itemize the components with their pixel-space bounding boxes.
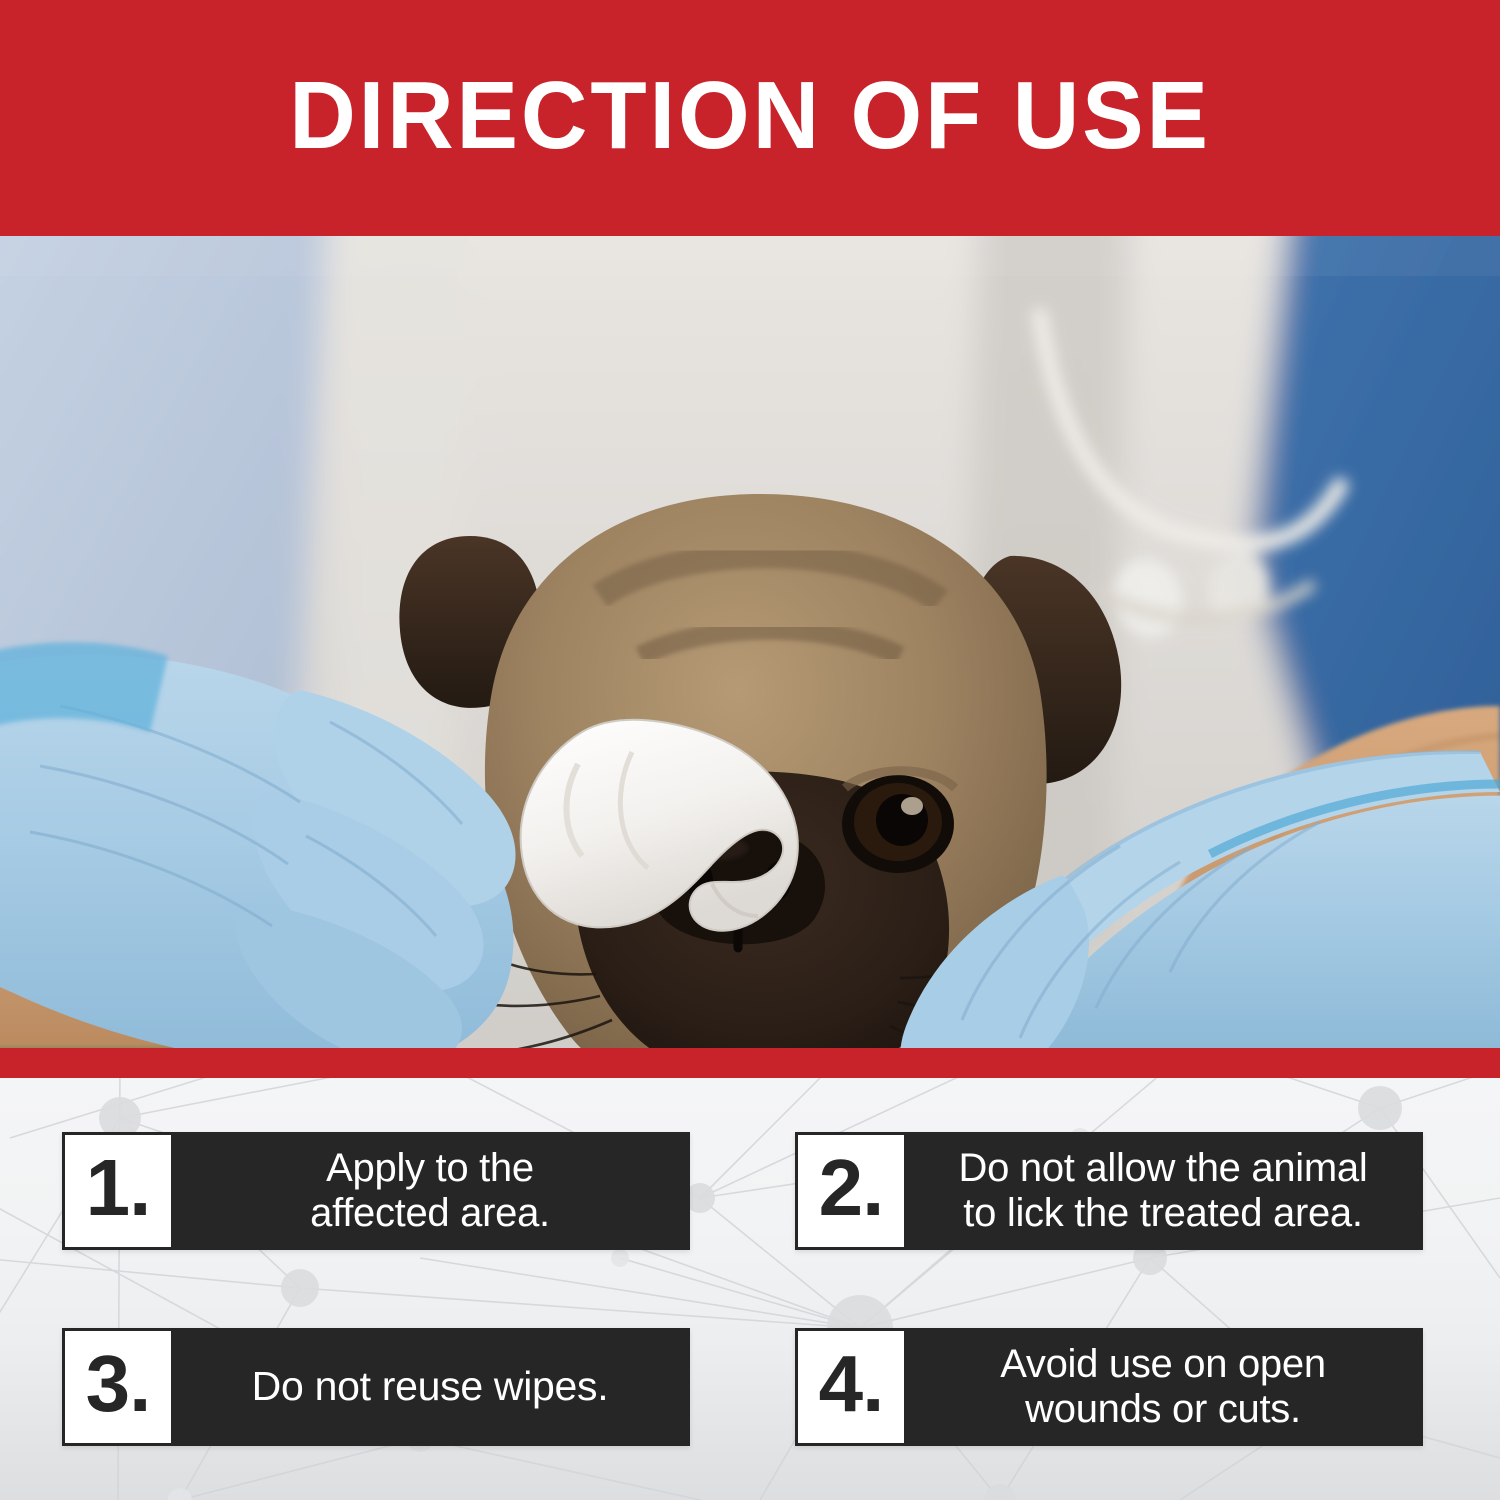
step-text-4: Avoid use on open wounds or cuts. bbox=[1000, 1342, 1326, 1432]
step-text-4-line-2: wounds or cuts. bbox=[1000, 1387, 1326, 1432]
step-text-1: Apply to the affected area. bbox=[310, 1146, 550, 1236]
step-text-wrap-4: Avoid use on open wounds or cuts. bbox=[907, 1328, 1423, 1446]
product-usage-photo bbox=[0, 236, 1500, 1048]
step-number-box-4: 4. bbox=[795, 1328, 907, 1446]
step-text-wrap-2: Do not allow the animal to lick the trea… bbox=[907, 1132, 1423, 1250]
direction-of-use-infographic: DIRECTION OF USE bbox=[0, 0, 1500, 1500]
step-text-3: Do not reuse wipes. bbox=[252, 1364, 609, 1410]
step-text-2-line-2: to lick the treated area. bbox=[959, 1191, 1368, 1236]
step-box-2: 2. Do not allow the animal to lick the t… bbox=[795, 1132, 1423, 1250]
steps-section: 1. Apply to the affected area. 2. Do not… bbox=[0, 1078, 1500, 1500]
step-number-box-1: 1. bbox=[62, 1132, 174, 1250]
step-text-2: Do not allow the animal to lick the trea… bbox=[959, 1146, 1368, 1236]
vet-wiping-dog-illustration bbox=[0, 236, 1500, 1048]
step-text-2-line-1: Do not allow the animal bbox=[959, 1146, 1368, 1191]
header-banner: DIRECTION OF USE bbox=[0, 0, 1500, 236]
step-text-1-line-1: Apply to the bbox=[310, 1146, 550, 1191]
step-box-4: 4. Avoid use on open wounds or cuts. bbox=[795, 1328, 1423, 1446]
step-box-3: 3. Do not reuse wipes. bbox=[62, 1328, 690, 1446]
step-text-3-line-1: Do not reuse wipes. bbox=[252, 1364, 609, 1410]
page-title: DIRECTION OF USE bbox=[289, 68, 1211, 168]
step-number-box-2: 2. bbox=[795, 1132, 907, 1250]
step-number-box-3: 3. bbox=[62, 1328, 174, 1446]
step-text-wrap-3: Do not reuse wipes. bbox=[174, 1328, 690, 1446]
step-text-wrap-1: Apply to the affected area. bbox=[174, 1132, 690, 1250]
step-number-2: 2. bbox=[819, 1148, 884, 1228]
step-number-1: 1. bbox=[86, 1148, 151, 1228]
step-text-4-line-1: Avoid use on open bbox=[1000, 1342, 1326, 1387]
step-text-1-line-2: affected area. bbox=[310, 1191, 550, 1236]
steps-grid: 1. Apply to the affected area. 2. Do not… bbox=[0, 1078, 1500, 1500]
red-divider-bar bbox=[0, 1048, 1500, 1078]
step-box-1: 1. Apply to the affected area. bbox=[62, 1132, 690, 1250]
step-number-4: 4. bbox=[819, 1344, 884, 1424]
step-number-3: 3. bbox=[86, 1344, 151, 1424]
